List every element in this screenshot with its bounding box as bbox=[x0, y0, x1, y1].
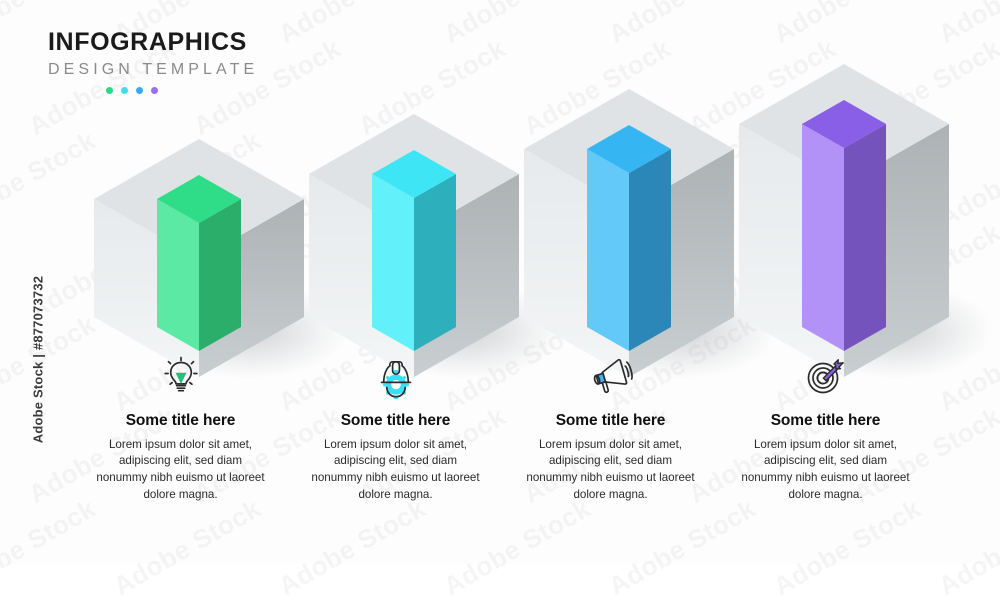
content-column-2: Some title here Lorem ipsum dolor sit am… bbox=[288, 352, 503, 504]
infographic-canvas: Adobe StockAdobe StockAdobe StockAdobe S… bbox=[0, 0, 1000, 564]
accent-right-face bbox=[414, 174, 456, 351]
column-title: Some title here bbox=[288, 412, 503, 431]
column-body: Lorem ipsum dolor sit amet, adipiscing e… bbox=[311, 437, 481, 504]
content-column-3: Some title here Lorem ipsum dolor sit am… bbox=[503, 352, 718, 504]
column-body: Lorem ipsum dolor sit amet, adipiscing e… bbox=[96, 437, 266, 504]
column-body: Lorem ipsum dolor sit amet, adipiscing e… bbox=[526, 437, 696, 504]
megaphone-icon bbox=[586, 353, 636, 399]
accent-left-face bbox=[372, 174, 414, 351]
content-columns: Some title here Lorem ipsum dolor sit am… bbox=[0, 352, 1000, 542]
helmet-gear-icon bbox=[373, 353, 419, 399]
helmet-gear-icon-wrap[interactable] bbox=[288, 352, 503, 400]
content-column-1: Some title here Lorem ipsum dolor sit am… bbox=[73, 352, 288, 504]
column-title: Some title here bbox=[718, 412, 933, 431]
accent-left-face bbox=[587, 149, 629, 351]
column-title: Some title here bbox=[73, 412, 288, 431]
isometric-blocks bbox=[0, 0, 1000, 345]
lightbulb-icon bbox=[158, 353, 204, 399]
column-body: Lorem ipsum dolor sit amet, adipiscing e… bbox=[741, 437, 911, 504]
target-dart-icon bbox=[802, 353, 850, 399]
accent-right-face bbox=[199, 199, 241, 351]
accent-right-face bbox=[629, 149, 671, 351]
content-column-4: Some title here Lorem ipsum dolor sit am… bbox=[718, 352, 933, 504]
accent-left-face bbox=[802, 124, 844, 351]
column-title: Some title here bbox=[503, 412, 718, 431]
accent-left-face bbox=[157, 199, 199, 351]
megaphone-icon-wrap[interactable] bbox=[503, 352, 718, 400]
lightbulb-icon-wrap[interactable] bbox=[73, 352, 288, 400]
target-dart-icon-wrap[interactable] bbox=[718, 352, 933, 400]
accent-right-face bbox=[844, 124, 886, 351]
